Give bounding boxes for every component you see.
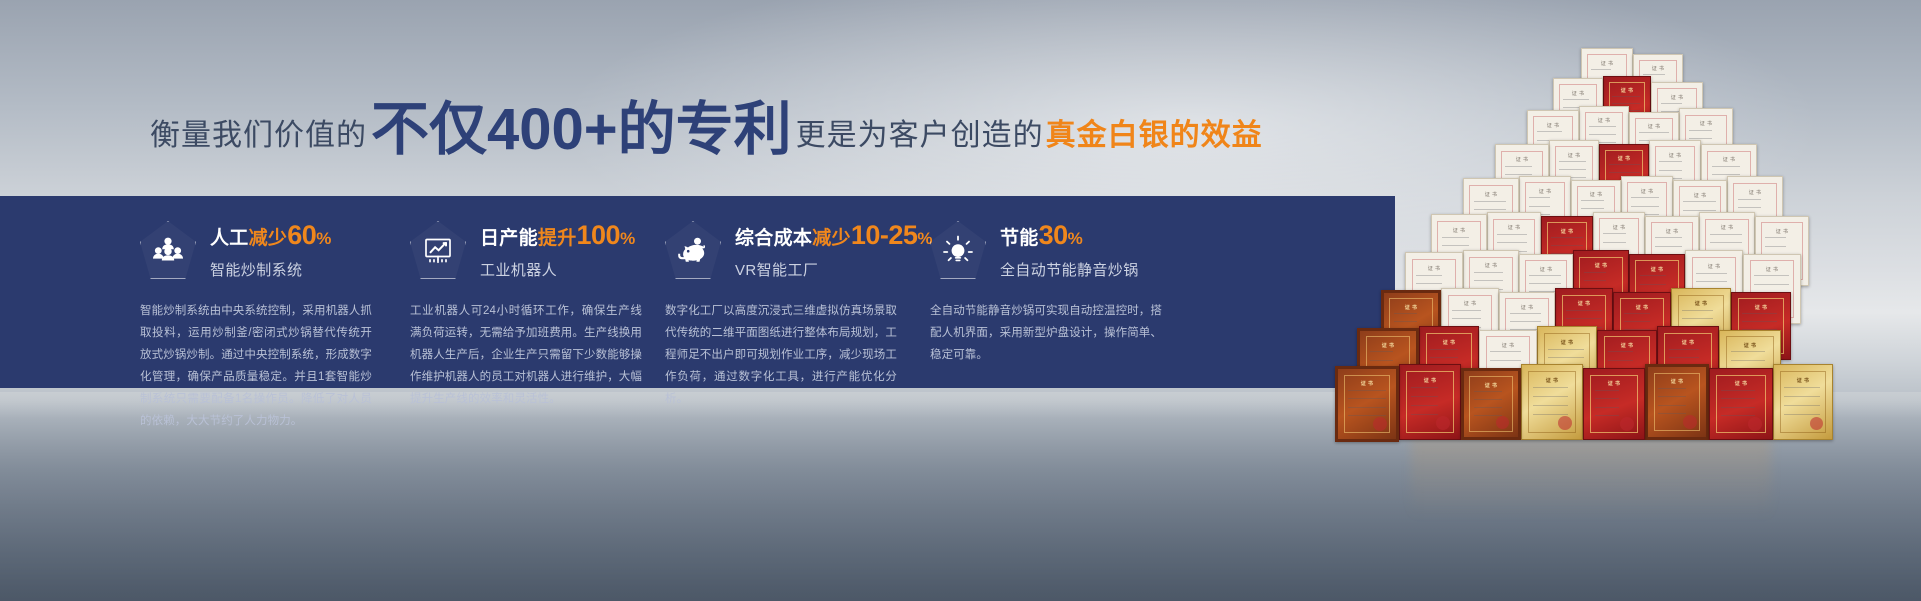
headline-mid: 更是为客户创造的 <box>796 110 1044 154</box>
feature-item: 人工减少60%智能炒制系统智能炒制系统由中央系统控制，采用机器人抓取投料，运用炒… <box>140 196 440 432</box>
certificate-plaque: 证 书 <box>1773 364 1833 440</box>
feature-title: 日产能提升100% <box>480 220 636 251</box>
feature-subtitle: 全自动节能静音炒锅 <box>1000 259 1139 280</box>
people-group-icon <box>140 221 196 279</box>
feature-title-prefix: 人工 <box>210 228 249 249</box>
feature-title: 节能30% <box>1000 220 1139 251</box>
headline-lead: 衡量我们价值的 <box>150 110 367 154</box>
piggy-bank-icon <box>665 221 721 279</box>
certificate-plaque: 证 书 <box>1335 366 1399 442</box>
feature-icon-frame <box>140 221 196 279</box>
feature-title: 人工减少60% <box>210 220 332 251</box>
certificate-plaque: 证 书 <box>1645 364 1709 440</box>
feature-title-unit: % <box>1068 229 1083 248</box>
feature-title-accent: 提升 <box>538 228 577 249</box>
feature-titles: 节能30%全自动节能静音炒锅 <box>1000 220 1139 279</box>
feature-icon-frame <box>665 221 721 279</box>
feature-title-prefix: 节能 <box>1000 228 1039 249</box>
headline-accent: 真金白银的效益 <box>1046 110 1263 154</box>
feature-item: 节能30%全自动节能静音炒锅全自动节能静音炒锅可实现自动控温控时，搭配人机界面，… <box>930 196 1230 366</box>
feature-body: 全自动节能静音炒锅可实现自动控温控时，搭配人机界面，采用新型炉盘设计，操作简单、… <box>930 300 1162 366</box>
feature-subtitle: 智能炒制系统 <box>210 259 332 280</box>
feature-title: 综合成本减少10-25% <box>735 220 933 251</box>
feature-subtitle: 工业机器人 <box>480 259 636 280</box>
feature-title-unit: % <box>620 229 635 248</box>
certificate-plaque: 证 书 <box>1399 364 1461 440</box>
feature-panel: 人工减少60%智能炒制系统智能炒制系统由中央系统控制，采用机器人抓取投料，运用炒… <box>0 196 1395 388</box>
feature-title-prefix: 综合成本 <box>735 228 812 249</box>
certificate-plaque: 证 书 <box>1521 364 1583 440</box>
feature-subtitle: VR智能工厂 <box>735 259 933 280</box>
feature-titles: 人工减少60%智能炒制系统 <box>210 220 332 279</box>
feature-title-unit: % <box>316 229 331 248</box>
feature-titles: 日产能提升100%工业机器人 <box>480 220 636 279</box>
feature-title-prefix: 日产能 <box>480 228 538 249</box>
certificate-plaque: 证 书 <box>1709 368 1773 440</box>
headline-strong: 不仅400+的专利 <box>371 82 792 166</box>
lightbulb-icon <box>930 221 986 279</box>
certificate-plaque: 证 书 <box>1461 368 1521 440</box>
feature-title-number: 30 <box>1039 220 1068 250</box>
feature-title-accent: 减少 <box>249 228 288 249</box>
feature-title-number: 10-25 <box>851 220 918 250</box>
promo-banner: 证 书证 书证 书证 书证 书证 书证 书证 书证 书证 书证 书证 书证 书证… <box>0 0 1921 601</box>
headline: 衡量我们价值的 不仅400+的专利 更是为客户创造的 真金白银的效益 <box>150 78 1263 150</box>
feature-titles: 综合成本减少10-25%VR智能工厂 <box>735 220 933 279</box>
feature-header: 节能30%全自动节能静音炒锅 <box>930 218 1230 282</box>
feature-title-number: 60 <box>287 220 316 250</box>
feature-icon-frame <box>410 221 466 279</box>
feature-title-number: 100 <box>577 220 621 250</box>
feature-header: 人工减少60%智能炒制系统 <box>140 218 440 282</box>
chart-board-icon <box>410 221 466 279</box>
feature-body: 工业机器人可24小时循环工作，确保生产线满负荷运转，无需给予加班费用。生产线换用… <box>410 300 642 410</box>
feature-body: 数字化工厂以高度沉浸式三维虚拟仿真场景取代传统的二维平面图纸进行整体布局规划，工… <box>665 300 897 410</box>
feature-header: 综合成本减少10-25%VR智能工厂 <box>665 218 965 282</box>
certificate-plaque: 证 书 <box>1583 368 1645 440</box>
feature-item: 综合成本减少10-25%VR智能工厂数字化工厂以高度沉浸式三维虚拟仿真场景取代传… <box>665 196 965 410</box>
feature-title-accent: 减少 <box>812 228 851 249</box>
feature-body: 智能炒制系统由中央系统控制，采用机器人抓取投料，运用炒制釜/密闭式炒锅替代传统开… <box>140 300 372 432</box>
feature-list: 人工减少60%智能炒制系统智能炒制系统由中央系统控制，采用机器人抓取投料，运用炒… <box>0 196 1395 388</box>
feature-icon-frame <box>930 221 986 279</box>
